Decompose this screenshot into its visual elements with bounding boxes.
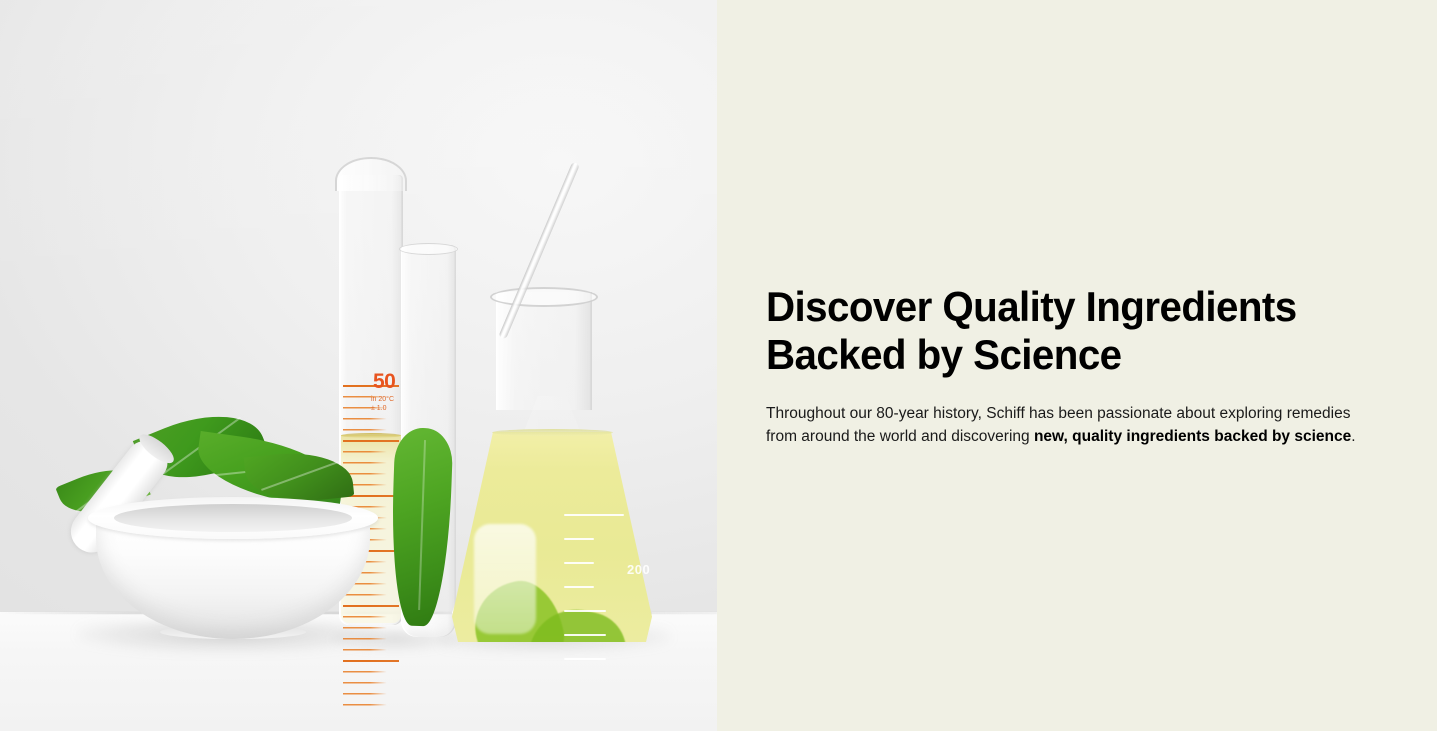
test-tube-rim: [399, 243, 458, 255]
hero-text-panel: Discover Quality Ingredients Backed by S…: [717, 0, 1437, 731]
mortar: [88, 497, 378, 645]
page-title-line-1: Discover Quality Ingredients: [766, 283, 1342, 331]
flask-highlight: [474, 524, 536, 634]
hero-description-emphasis: new, quality ingredients backed by scien…: [1034, 428, 1351, 445]
cylinder-volume-label: 50: [373, 371, 395, 392]
page-title-line-2: Backed by Science: [766, 331, 1342, 379]
erlenmeyer-flask: 200: [452, 292, 652, 642]
flask-volume-label: 200: [627, 563, 650, 576]
cylinder-tolerance-label: in 20°C ± 1.0: [371, 395, 394, 414]
hero-description: Throughout our 80-year history, Schiff h…: [766, 403, 1356, 448]
flask-liquid-surface: [492, 429, 613, 436]
hero-image: 50 in 20°C ± 1.0: [0, 0, 717, 731]
flask-lip: [490, 287, 598, 307]
hero-description-tail: .: [1351, 428, 1355, 445]
hero-section: 50 in 20°C ± 1.0: [0, 0, 1437, 731]
flask-tick-marks: [564, 514, 638, 684]
page-title: Discover Quality Ingredients Backed by S…: [766, 283, 1342, 379]
cylinder-spout: [335, 157, 407, 191]
mortar-interior: [114, 504, 352, 532]
hero-text-inner: Discover Quality Ingredients Backed by S…: [766, 283, 1366, 448]
